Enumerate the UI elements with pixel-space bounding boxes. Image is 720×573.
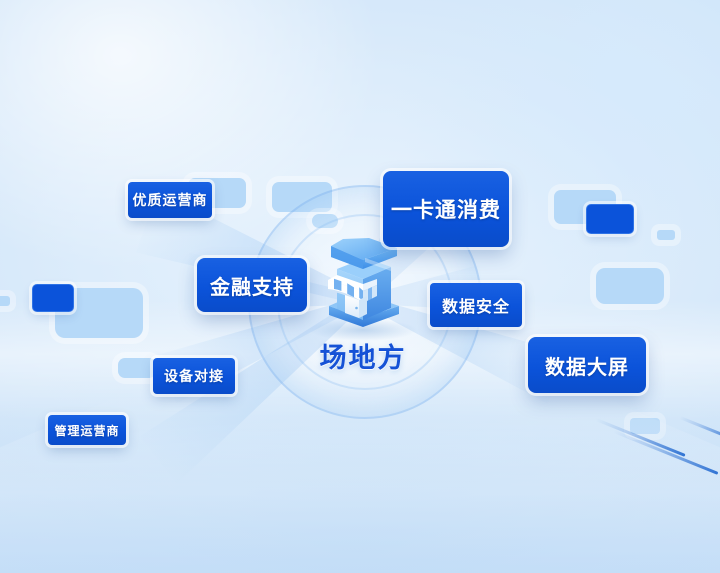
badge-device-integration[interactable]: 设备对接: [153, 358, 235, 394]
deco-rect-pale-7: [596, 268, 664, 304]
deco-rect-solid-left: [32, 284, 74, 312]
storefront-3d-icon: [315, 235, 411, 339]
badge-data-security[interactable]: 数据安全: [430, 283, 522, 327]
badge-financial-support[interactable]: 金融支持: [197, 258, 307, 312]
deco-rect-pale-8: [657, 230, 675, 240]
deco-rect-solid-right: [586, 204, 634, 234]
deco-rect-pale-5: [118, 358, 156, 378]
hub-label: 场地方: [320, 336, 407, 375]
ground-plane-gradient: [0, 423, 720, 573]
deco-rect-pale-9: [0, 296, 10, 306]
badge-quality-operator[interactable]: 优质运营商: [128, 182, 212, 218]
illustration-canvas: 场地方 一卡通消费 数据大屏 数据安全 金融支持 优质运营商 设备对接 管理运营…: [0, 0, 720, 573]
badge-management-operator[interactable]: 管理运营商: [48, 415, 126, 445]
badge-data-dashboard[interactable]: 数据大屏: [528, 337, 646, 393]
badge-one-card-consumption[interactable]: 一卡通消费: [383, 171, 509, 247]
